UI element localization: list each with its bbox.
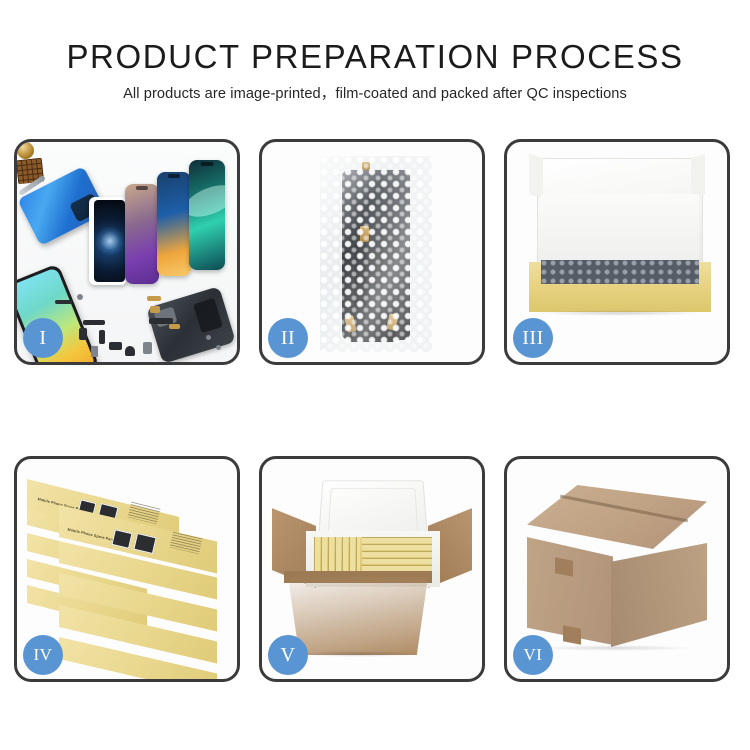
phone-teal-graphic bbox=[189, 160, 225, 270]
part-bit bbox=[77, 294, 83, 300]
part-bit bbox=[206, 335, 211, 340]
kraft-tray-front bbox=[529, 284, 711, 312]
step-badge-3: III bbox=[513, 318, 553, 358]
box-lid-flap-right bbox=[691, 154, 705, 198]
part-bit bbox=[109, 342, 122, 350]
part-bit bbox=[91, 346, 98, 357]
header: PRODUCT PREPARATION PROCESS All products… bbox=[0, 0, 750, 103]
stacked-box bbox=[59, 637, 217, 659]
part-bit bbox=[143, 342, 152, 354]
phone-blue-graphic bbox=[157, 172, 191, 276]
part-bit bbox=[150, 306, 160, 313]
step-panel-1: I bbox=[14, 139, 240, 365]
part-bit bbox=[79, 328, 87, 340]
bubble-padding-graphic bbox=[541, 260, 699, 286]
step-panel-6: VI bbox=[504, 456, 730, 682]
step-badge-6: VI bbox=[513, 635, 553, 675]
page-subtitle: All products are image-printed，film-coat… bbox=[0, 85, 750, 103]
part-bit bbox=[216, 345, 221, 350]
stacked-box bbox=[59, 541, 217, 563]
carton-front-graphic bbox=[288, 577, 428, 655]
step-badge-1: I bbox=[23, 318, 63, 358]
step-panel-5: V bbox=[259, 456, 485, 682]
step-badge-5: V bbox=[268, 635, 308, 675]
front-glass-graphic bbox=[89, 197, 127, 285]
part-bit bbox=[169, 324, 180, 329]
part-bit bbox=[125, 346, 135, 356]
coil-chip-graphic bbox=[17, 142, 34, 159]
plastic-sheen bbox=[320, 156, 432, 352]
process-steps-grid: I II bbox=[14, 139, 736, 682]
phone-purple-graphic bbox=[125, 184, 159, 284]
carton-right-face bbox=[611, 543, 707, 647]
drop-shadow bbox=[537, 310, 703, 316]
part-bit bbox=[99, 330, 105, 344]
bubble-wrap-bag-graphic bbox=[320, 156, 432, 352]
step-badge-2: II bbox=[268, 318, 308, 358]
product-preparation-infographic: PRODUCT PREPARATION PROCESS All products… bbox=[0, 0, 750, 750]
stacked-box bbox=[59, 605, 217, 627]
box-stack-graphic: Mobile Phone Spare Parts Mobile Phone Sp… bbox=[25, 471, 231, 667]
drop-shadow bbox=[296, 651, 420, 657]
drop-shadow bbox=[535, 645, 695, 651]
tape-seal bbox=[563, 625, 581, 644]
step-panel-4: Mobile Phone Spare Parts Mobile Phone Sp… bbox=[14, 456, 240, 682]
step-badge-4: IV bbox=[23, 635, 63, 675]
step-panel-2: II bbox=[259, 139, 485, 365]
part-bit bbox=[149, 318, 173, 324]
inner-foam-graphic bbox=[541, 194, 699, 266]
page-title: PRODUCT PREPARATION PROCESS bbox=[0, 38, 750, 76]
box-lid-flap-left bbox=[529, 154, 543, 198]
part-bit bbox=[55, 300, 72, 304]
part-bit bbox=[147, 296, 161, 301]
tape-seal bbox=[555, 557, 573, 576]
stacked-box bbox=[59, 573, 217, 595]
step-panel-3: III bbox=[504, 139, 730, 365]
part-bit bbox=[83, 320, 105, 325]
stacked-box-labeled-front: Mobile Phone Spare Parts bbox=[59, 505, 217, 537]
